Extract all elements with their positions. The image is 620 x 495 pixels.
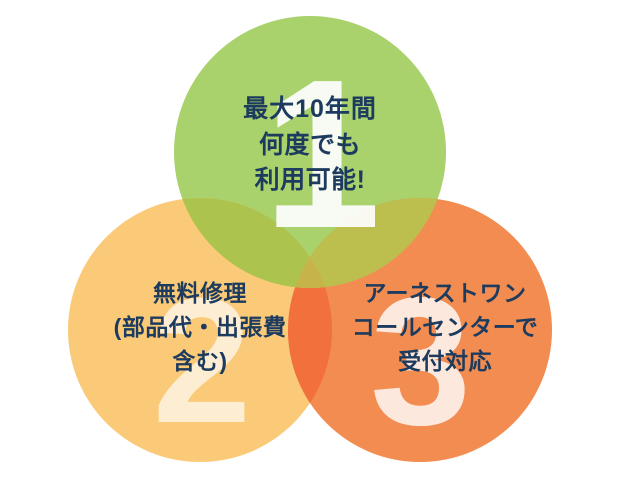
label-yellow-circle: 無料修理 (部品代・出張費 含む) xyxy=(61,276,339,378)
label-yellow-line-3: 含む) xyxy=(61,344,339,378)
label-orange-line-1: アーネストワン xyxy=(300,276,590,310)
venn-diagram-canvas: 1 2 3 最大10年間 何度でも 利用可能! 無料修理 (部品代・出張費 含む… xyxy=(0,0,620,495)
label-orange-line-2: コールセンターで xyxy=(300,310,590,344)
label-yellow-line-1: 無料修理 xyxy=(61,276,339,310)
label-green-line-2: 何度でも xyxy=(0,128,620,164)
label-green-line-1: 最大10年間 xyxy=(0,92,620,128)
label-orange-circle: アーネストワン コールセンターで 受付対応 xyxy=(300,276,590,378)
label-yellow-line-2: (部品代・出張費 xyxy=(61,310,339,344)
label-orange-line-3: 受付対応 xyxy=(300,344,590,378)
label-green-line-3: 利用可能! xyxy=(0,163,620,199)
label-green-circle: 最大10年間 何度でも 利用可能! xyxy=(0,92,620,199)
